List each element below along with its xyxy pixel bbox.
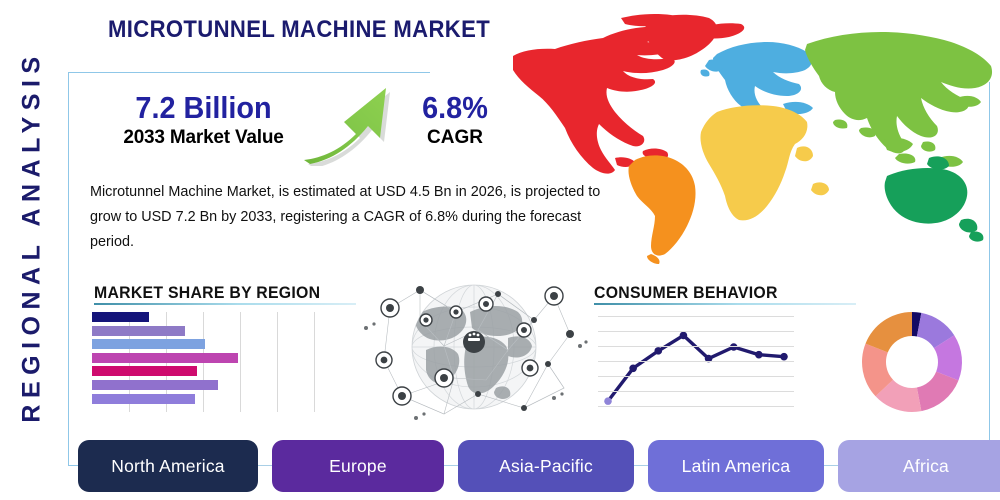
market-share-bar-chart bbox=[92, 312, 314, 412]
line-gridline bbox=[598, 346, 794, 347]
world-map-illustration bbox=[495, 8, 1000, 266]
market-share-rule bbox=[94, 303, 356, 305]
tab-connector bbox=[634, 465, 648, 466]
regional-analysis-side-label: REGIONAL ANALYSIS bbox=[0, 0, 62, 500]
market-share-section-title: MARKET SHARE BY REGION bbox=[94, 283, 320, 303]
region-tab-latin-america[interactable]: Latin America bbox=[648, 440, 824, 492]
bar-gridline bbox=[314, 312, 315, 412]
side-label-text: REGIONAL ANALYSIS bbox=[18, 17, 47, 457]
bar-4 bbox=[92, 353, 238, 363]
line-gridline bbox=[598, 361, 794, 362]
line-gridline bbox=[598, 376, 794, 377]
region-tab-africa[interactable]: Africa bbox=[838, 440, 1000, 492]
region-donut-chart bbox=[856, 306, 968, 418]
consumer-behavior-section-title: CONSUMER BEHAVIOR bbox=[594, 283, 778, 303]
bar-2 bbox=[92, 326, 185, 336]
line-gridline bbox=[598, 316, 794, 317]
region-tab-north-america[interactable]: North America bbox=[78, 440, 258, 492]
bar-gridline bbox=[240, 312, 241, 412]
region-tab-label: Africa bbox=[903, 456, 949, 477]
bar-gridline bbox=[277, 312, 278, 412]
region-tab-label: Asia-Pacific bbox=[499, 456, 593, 477]
bar-3 bbox=[92, 339, 205, 349]
market-value-label: 2033 Market Value bbox=[96, 127, 311, 149]
bar-5 bbox=[92, 366, 197, 376]
global-network-illustration bbox=[358, 268, 590, 426]
region-tab-label: Latin America bbox=[682, 456, 791, 477]
market-value-number: 7.2 Billion bbox=[104, 92, 304, 125]
region-tab-label: Europe bbox=[329, 456, 387, 477]
region-tab-europe[interactable]: Europe bbox=[272, 440, 444, 492]
bar-6 bbox=[92, 380, 218, 390]
bar-7 bbox=[92, 394, 195, 404]
tab-connector bbox=[444, 465, 458, 466]
consumer-behavior-rule bbox=[594, 303, 856, 305]
tab-connector bbox=[258, 465, 272, 466]
region-tab-label: North America bbox=[111, 456, 224, 477]
consumer-behavior-line-chart bbox=[598, 310, 794, 415]
bar-1 bbox=[92, 312, 149, 322]
cagr-number: 6.8% bbox=[400, 92, 510, 125]
line-gridline bbox=[598, 391, 794, 392]
region-tab-asia-pacific[interactable]: Asia-Pacific bbox=[458, 440, 634, 492]
tab-connector bbox=[824, 465, 838, 466]
line-chart-gridlines bbox=[598, 310, 794, 415]
line-gridline bbox=[598, 406, 794, 407]
region-tabs[interactable]: North AmericaEuropeAsia-PacificLatin Ame… bbox=[78, 440, 988, 492]
line-gridline bbox=[598, 331, 794, 332]
growth-arrow-icon bbox=[300, 84, 400, 166]
page-title: MICROTUNNEL MACHINE MARKET bbox=[108, 16, 490, 44]
infographic-root: REGIONAL ANALYSIS MICROTUNNEL MACHINE MA… bbox=[0, 0, 1000, 500]
market-value-stat: 7.2 Billion 2033 Market Value bbox=[96, 92, 311, 149]
